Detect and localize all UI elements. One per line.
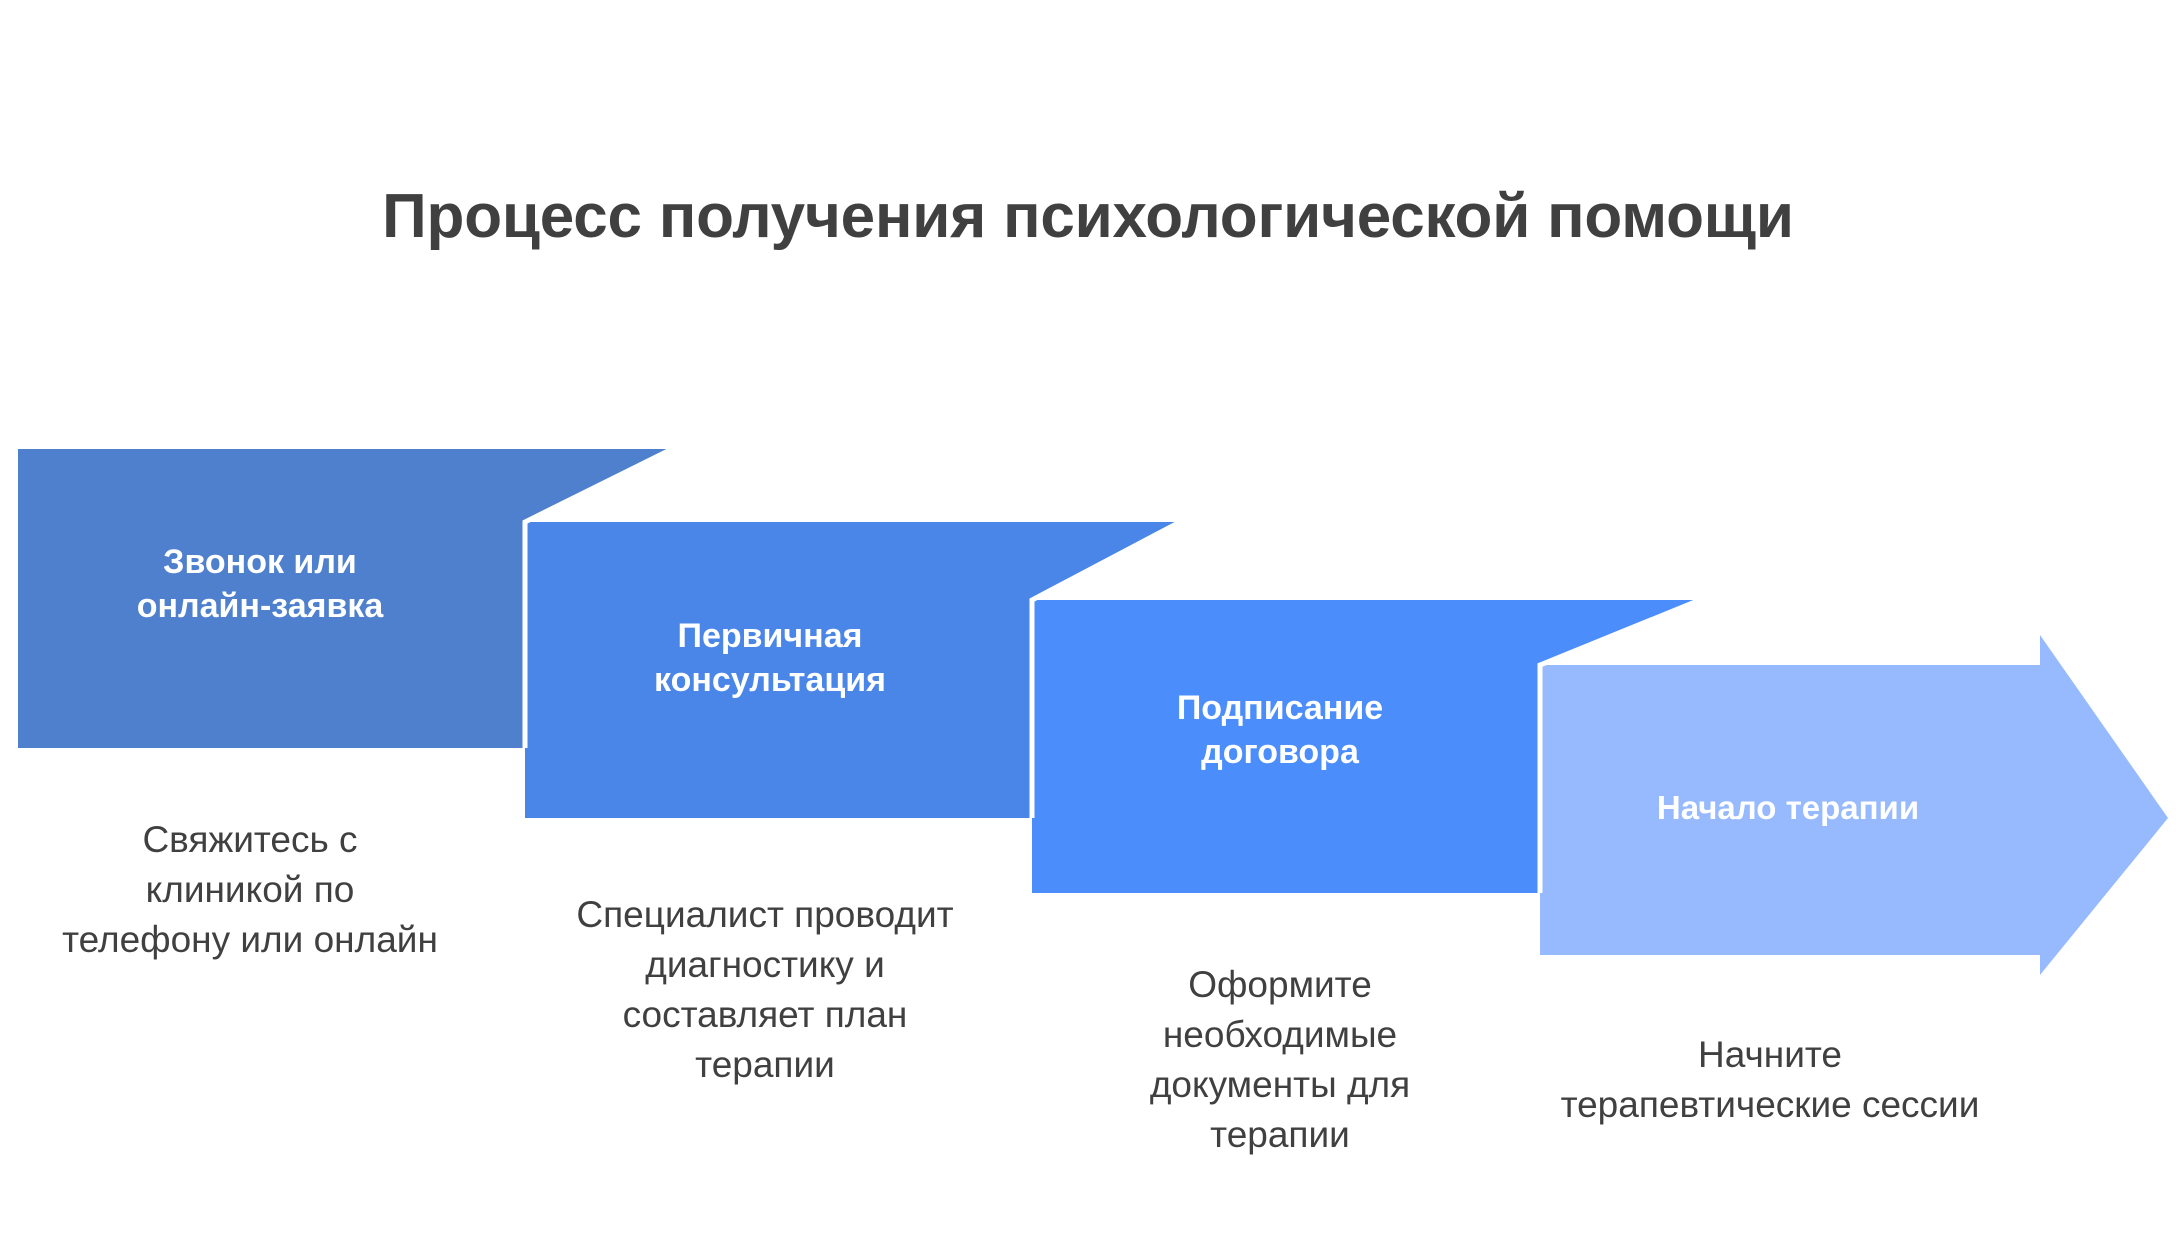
slide-canvas: Процесс получения психологической помощи [0,0,2176,1256]
step-caption-4: Начните терапевтические сессии [1555,1030,1985,1130]
process-diagram: Звонок или онлайн-заявка Первичная консу… [0,0,2176,1256]
step-caption-1: Свяжитесь с клиникой по телефону или онл… [60,815,440,965]
step-4-arrow-path [1540,635,2168,975]
step-shape-4[interactable] [1540,635,2168,975]
step-caption-2: Специалист проводит диагностику и состав… [565,890,965,1090]
step-caption-3: Оформите необходимые документы для терап… [1075,960,1485,1160]
